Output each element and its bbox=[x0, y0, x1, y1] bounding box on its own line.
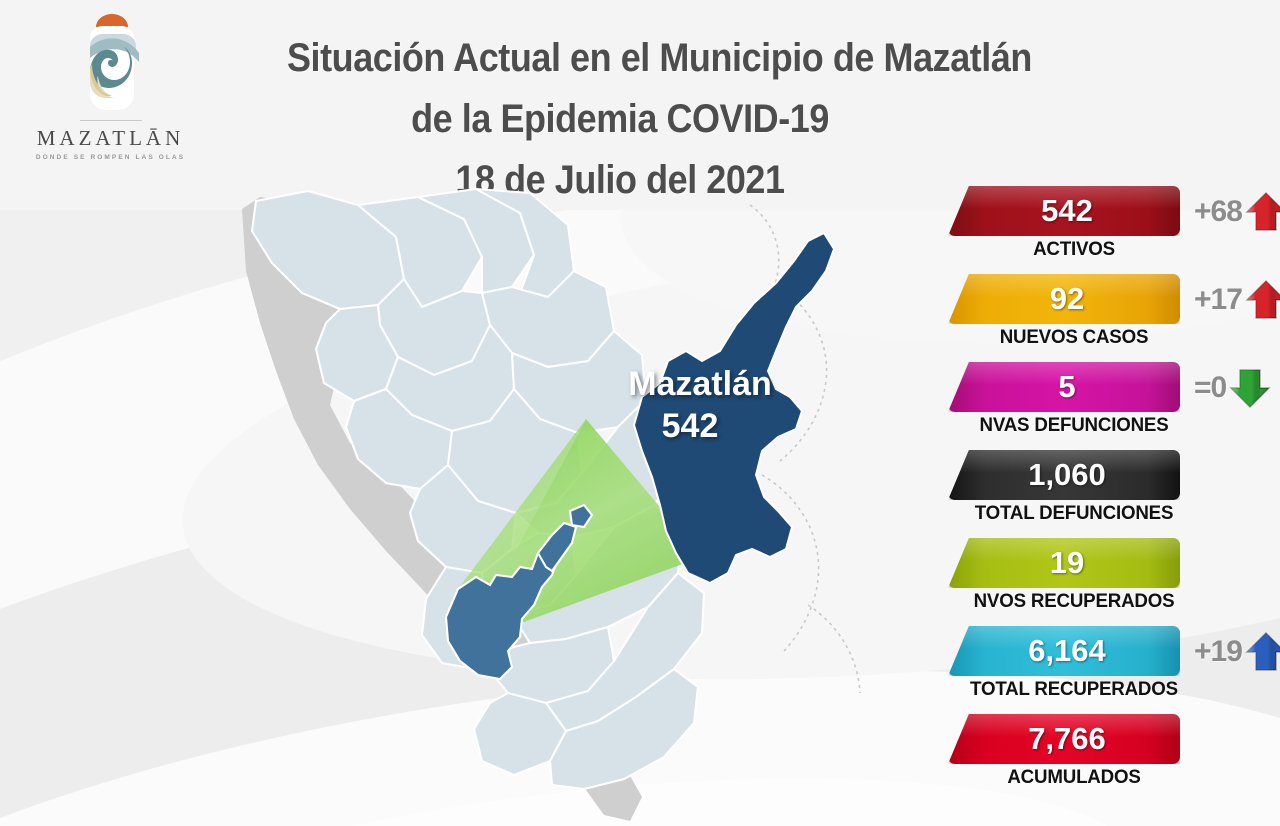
stat-bar: 542ACTIVOS+68 bbox=[948, 186, 1180, 236]
stat-delta: +19 bbox=[1194, 630, 1280, 674]
stat-delta: +68 bbox=[1194, 190, 1280, 234]
stat-bar: 6,164TOTAL RECUPERADOS+19 bbox=[948, 626, 1180, 676]
stat-bar: 19NVOS RECUPERADOS bbox=[948, 538, 1180, 588]
title-line-2: de la Epidemia COVID-19 bbox=[287, 89, 953, 150]
map-label-value: 542 bbox=[662, 407, 719, 445]
stat-label: NUEVOS CASOS bbox=[953, 326, 1195, 349]
stat-delta-text: =0 bbox=[1194, 371, 1226, 405]
stat-bar-fill: 7,766 bbox=[948, 714, 1180, 764]
stat-label: TOTAL DEFUNCIONES bbox=[953, 502, 1195, 525]
stat-card[interactable]: 542ACTIVOS+68 bbox=[938, 186, 1280, 274]
sinaloa-map: Mazatlán 542 bbox=[190, 175, 950, 825]
map-svg: Mazatlán 542 bbox=[190, 175, 950, 825]
stat-delta: +17 bbox=[1194, 278, 1280, 322]
stat-label: ACUMULADOS bbox=[953, 766, 1195, 789]
stat-value: 19 bbox=[948, 538, 1180, 588]
stat-card[interactable]: 6,164TOTAL RECUPERADOS+19 bbox=[938, 626, 1280, 714]
stat-bar-fill: 1,060 bbox=[948, 450, 1180, 500]
stat-delta: =0 bbox=[1194, 366, 1272, 410]
title-line-1: Situación Actual en el Municipio de Maza… bbox=[287, 28, 953, 89]
stat-bar: 1,060TOTAL DEFUNCIONES bbox=[948, 450, 1180, 500]
stat-bar-fill: 19 bbox=[948, 538, 1180, 588]
stat-bar: 5NVAS DEFUNCIONES=0 bbox=[948, 362, 1180, 412]
arrow-up-icon bbox=[1244, 190, 1280, 234]
stat-card[interactable]: 19NVOS RECUPERADOS bbox=[938, 538, 1280, 626]
stat-bar-fill: 92 bbox=[948, 274, 1180, 324]
stat-delta-text: +19 bbox=[1194, 635, 1242, 669]
stat-delta-text: +68 bbox=[1194, 195, 1242, 229]
arrow-up-icon bbox=[1244, 278, 1280, 322]
logo-tagline: DONDE SE ROMPEN LAS OLAS bbox=[18, 154, 203, 161]
stat-card[interactable]: 5NVAS DEFUNCIONES=0 bbox=[938, 362, 1280, 450]
stat-bar: 7,766ACUMULADOS bbox=[948, 714, 1180, 764]
infographic-canvas: MAZATLĀN DONDE SE ROMPEN LAS OLAS Situac… bbox=[0, 0, 1280, 826]
stat-label: NVAS DEFUNCIONES bbox=[953, 414, 1195, 437]
stat-label: NVOS RECUPERADOS bbox=[953, 590, 1195, 613]
stat-label: TOTAL RECUPERADOS bbox=[953, 678, 1195, 701]
stat-value: 92 bbox=[948, 274, 1180, 324]
mazatlan-logo: MAZATLĀN DONDE SE ROMPEN LAS OLAS bbox=[18, 8, 203, 173]
stats-panel: 542ACTIVOS+6892NUEVOS CASOS+175NVAS DEFU… bbox=[938, 186, 1280, 806]
stat-bar-fill: 542 bbox=[948, 186, 1180, 236]
stat-value: 1,060 bbox=[948, 450, 1180, 500]
stat-bar-fill: 6,164 bbox=[948, 626, 1180, 676]
shell-wave-logo-icon bbox=[76, 12, 148, 120]
map-label-name: Mazatlán bbox=[628, 365, 772, 403]
stat-value: 5 bbox=[948, 362, 1180, 412]
stat-card[interactable]: 1,060TOTAL DEFUNCIONES bbox=[938, 450, 1280, 538]
stat-label: ACTIVOS bbox=[953, 238, 1195, 261]
stat-value: 542 bbox=[948, 186, 1180, 236]
logo-divider bbox=[80, 120, 142, 121]
stat-value: 7,766 bbox=[948, 714, 1180, 764]
arrow-up-icon bbox=[1244, 630, 1280, 674]
logo-wordmark: MAZATLĀN bbox=[18, 126, 203, 151]
stat-value: 6,164 bbox=[948, 626, 1180, 676]
stat-bar-fill: 5 bbox=[948, 362, 1180, 412]
arrow-down-icon bbox=[1228, 366, 1272, 410]
stat-card[interactable]: 7,766ACUMULADOS bbox=[938, 714, 1280, 802]
stat-delta-text: +17 bbox=[1194, 283, 1242, 317]
stat-card[interactable]: 92NUEVOS CASOS+17 bbox=[938, 274, 1280, 362]
stat-bar: 92NUEVOS CASOS+17 bbox=[948, 274, 1180, 324]
